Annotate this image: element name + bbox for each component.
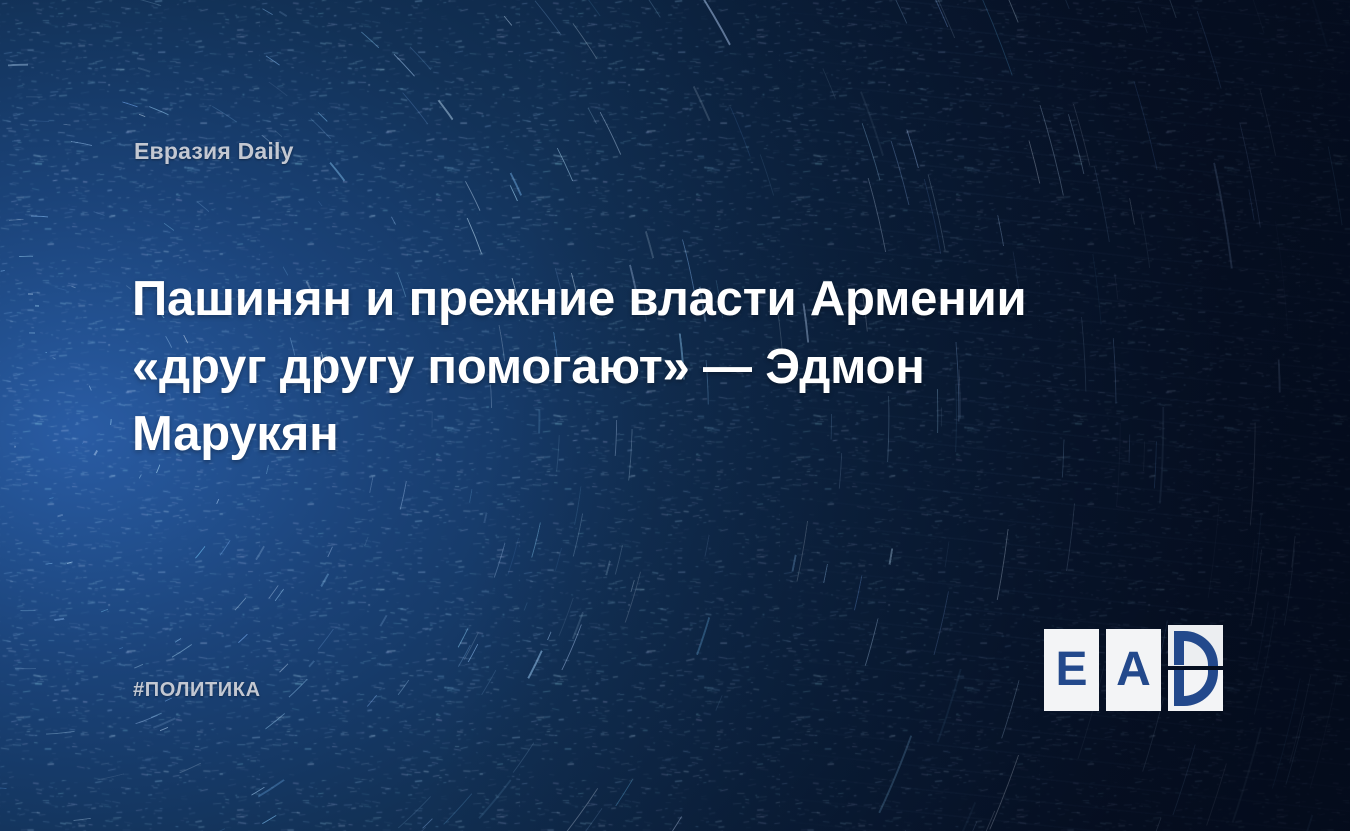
- logo-tile-a: A: [1106, 629, 1161, 711]
- headline-line: Марукян: [132, 401, 1142, 469]
- headline-line: «друг другу помогают» — Эдмон: [132, 334, 1142, 402]
- site-brand-name: Евразия Daily: [134, 138, 294, 165]
- card-content: Евразия Daily Пашинян и прежние власти А…: [0, 0, 1350, 831]
- logo-tile-e: E: [1044, 629, 1099, 711]
- category-tag: #ПОЛИТИКА: [133, 679, 261, 702]
- news-share-card: Евразия Daily Пашинян и прежние власти А…: [0, 0, 1350, 831]
- logo-tile-d-top: [1168, 625, 1223, 666]
- logo-letter-a: A: [1106, 629, 1161, 711]
- eadaily-logo: E A: [1044, 625, 1224, 711]
- logo-letter-e: E: [1044, 629, 1099, 711]
- logo-tile-d-bottom: [1168, 670, 1223, 711]
- page-title: Пашинян и прежние власти Армении «друг д…: [132, 266, 1142, 469]
- headline-line: Пашинян и прежние власти Армении: [132, 266, 1142, 334]
